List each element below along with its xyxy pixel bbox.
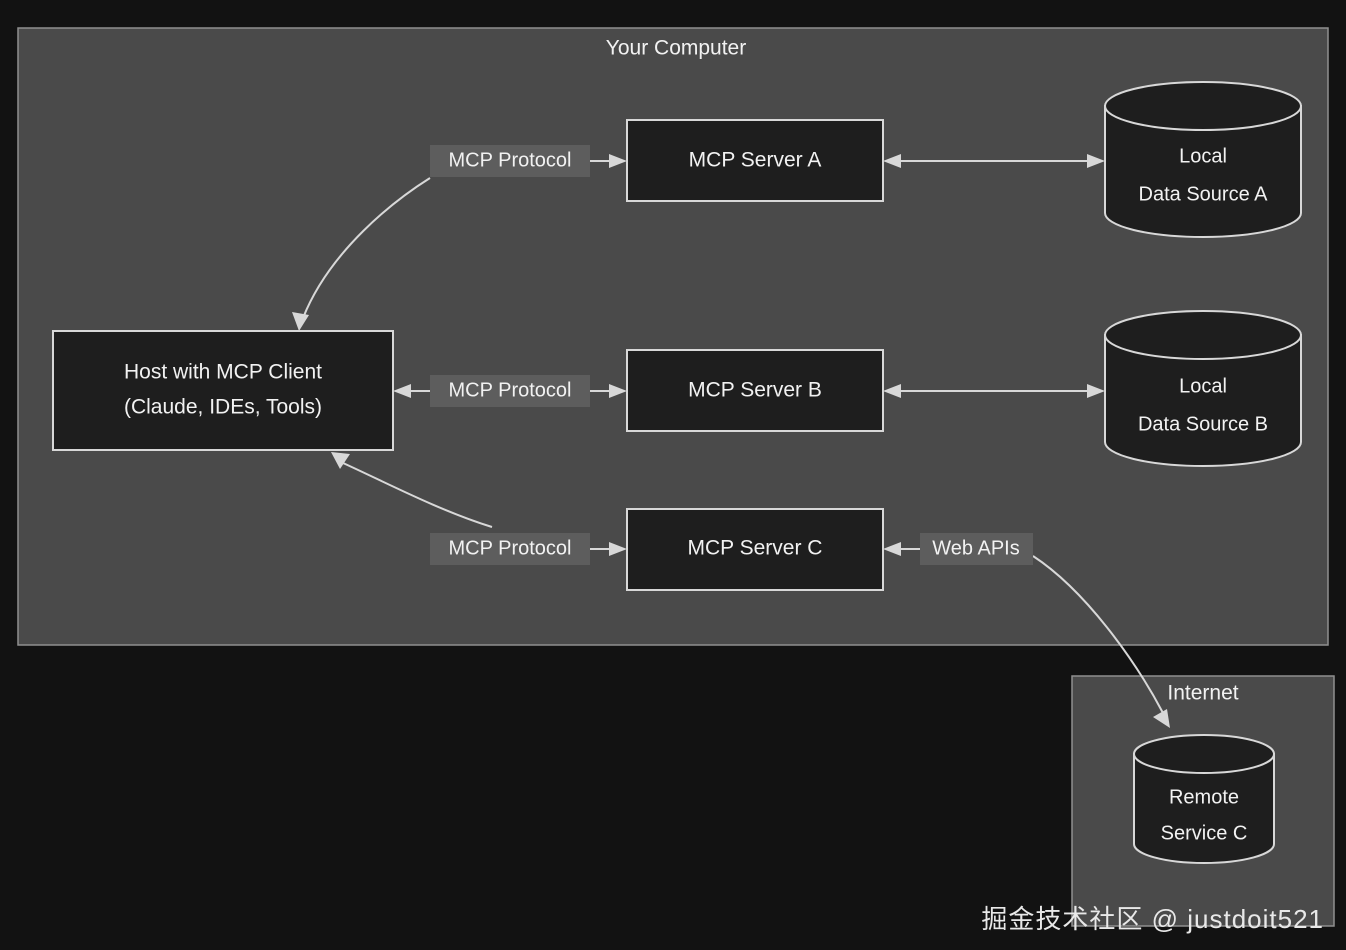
server-a-node-label: MCP Server A: [689, 149, 822, 172]
server-c-node-label: MCP Server C: [688, 537, 823, 560]
node-mcp-server-c[interactable]: MCP Server C: [627, 509, 883, 590]
edge-label-mcp-protocol-c: MCP Protocol: [430, 533, 590, 565]
host-node-label-line2: (Claude, IDEs, Tools): [124, 396, 322, 419]
mcp-protocol-c-label: MCP Protocol: [448, 537, 571, 559]
watermark: 掘金技术社区 @ justdoit521: [981, 899, 1324, 936]
node-host-with-mcp-client[interactable]: Host with MCP Client (Claude, IDEs, Tool…: [53, 331, 393, 450]
node-local-data-source-b[interactable]: Local Data Source B: [1105, 311, 1301, 466]
mcp-architecture-diagram: Your Computer Internet: [0, 0, 1346, 950]
internet-panel-title: Internet: [1167, 682, 1238, 705]
diagram-canvas: Your Computer Internet: [0, 0, 1346, 950]
edge-label-mcp-protocol-a: MCP Protocol: [430, 145, 590, 177]
node-mcp-server-a[interactable]: MCP Server A: [627, 120, 883, 201]
mcp-protocol-a-label: MCP Protocol: [448, 149, 571, 171]
local-a-label-line1: Local: [1179, 145, 1227, 167]
host-node-rect[interactable]: [53, 331, 393, 450]
mcp-protocol-b-label: MCP Protocol: [448, 379, 571, 401]
remote-c-label-line2: Service C: [1161, 822, 1248, 844]
web-apis-label: Web APIs: [932, 537, 1019, 559]
host-node-label-line1: Host with MCP Client: [124, 361, 322, 384]
remote-c-cylinder-top: [1134, 735, 1274, 773]
local-a-label-line2: Data Source A: [1139, 183, 1269, 205]
edge-label-web-apis: Web APIs: [920, 533, 1033, 565]
server-b-node-label: MCP Server B: [688, 379, 822, 402]
edge-label-mcp-protocol-b: MCP Protocol: [430, 375, 590, 407]
remote-c-label-line1: Remote: [1169, 786, 1239, 808]
local-b-cylinder-top: [1105, 311, 1301, 359]
node-local-data-source-a[interactable]: Local Data Source A: [1105, 82, 1301, 237]
local-b-label-line2: Data Source B: [1138, 413, 1268, 435]
node-remote-service-c[interactable]: Remote Service C: [1134, 735, 1274, 863]
local-b-label-line1: Local: [1179, 375, 1227, 397]
local-a-cylinder-top: [1105, 82, 1301, 130]
node-mcp-server-b[interactable]: MCP Server B: [627, 350, 883, 431]
your-computer-panel-title: Your Computer: [606, 37, 746, 60]
